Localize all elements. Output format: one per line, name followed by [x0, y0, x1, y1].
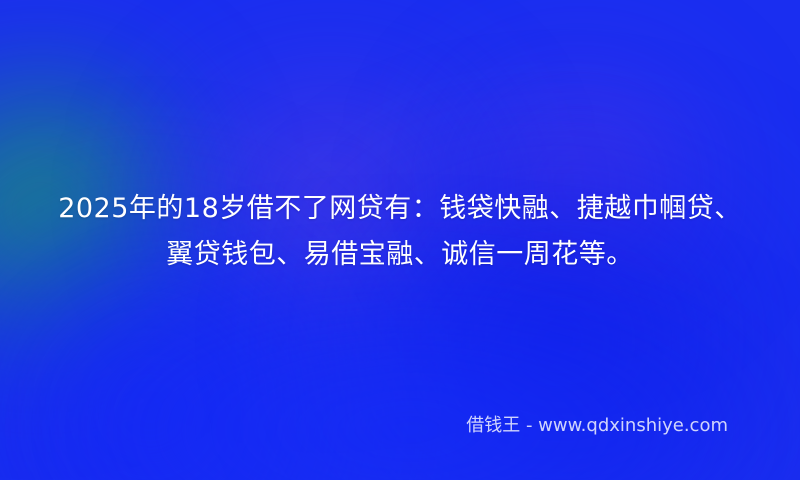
- bottom-glow-decoration: [60, 300, 760, 480]
- promo-banner: 2025年的18岁借不了网贷有：钱袋快融、捷越巾帼贷、翼贷钱包、易借宝融、诚信一…: [0, 0, 800, 480]
- site-watermark: 借钱王 - www.qdxinshiye.com: [466, 415, 728, 437]
- headline-text: 2025年的18岁借不了网贷有：钱袋快融、捷越巾帼贷、翼贷钱包、易借宝融、诚信一…: [50, 186, 750, 278]
